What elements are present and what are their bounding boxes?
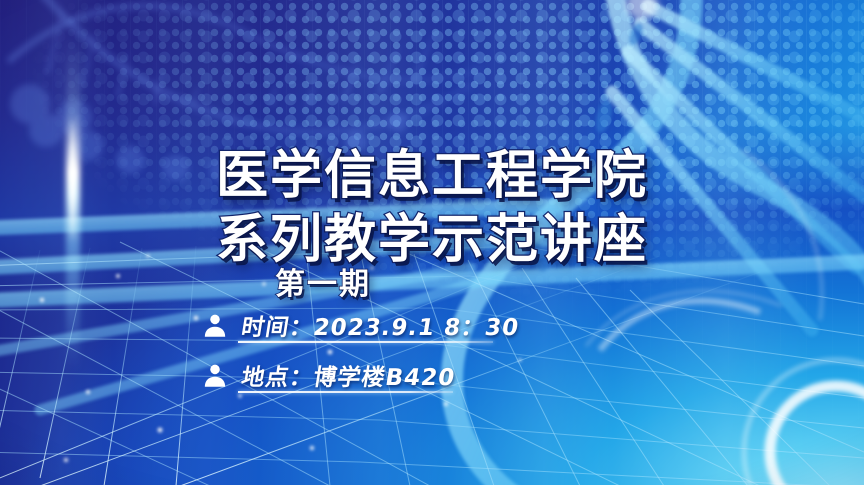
- info-time-text: 时间：2023.9.1 8：30: [239, 308, 522, 342]
- person-icon: [202, 362, 228, 389]
- poster-canvas: 医学信息工程学院 系列教学示范讲座 第一期 时间：2023.9.1 8：30 地…: [0, 0, 864, 485]
- info-place-text: 地点：博学楼B420: [239, 358, 458, 392]
- poster-subtitle-session: 第一期: [0, 259, 864, 303]
- person-icon: [202, 312, 228, 339]
- info-place-underline: [238, 391, 453, 393]
- info-row-place: 地点：博学楼B420: [202, 358, 456, 392]
- poster-content: 医学信息工程学院 系列教学示范讲座 第一期 时间：2023.9.1 8：30 地…: [0, 0, 864, 485]
- info-time-underline: [238, 341, 493, 343]
- info-row-time: 时间：2023.9.1 8：30: [202, 308, 520, 342]
